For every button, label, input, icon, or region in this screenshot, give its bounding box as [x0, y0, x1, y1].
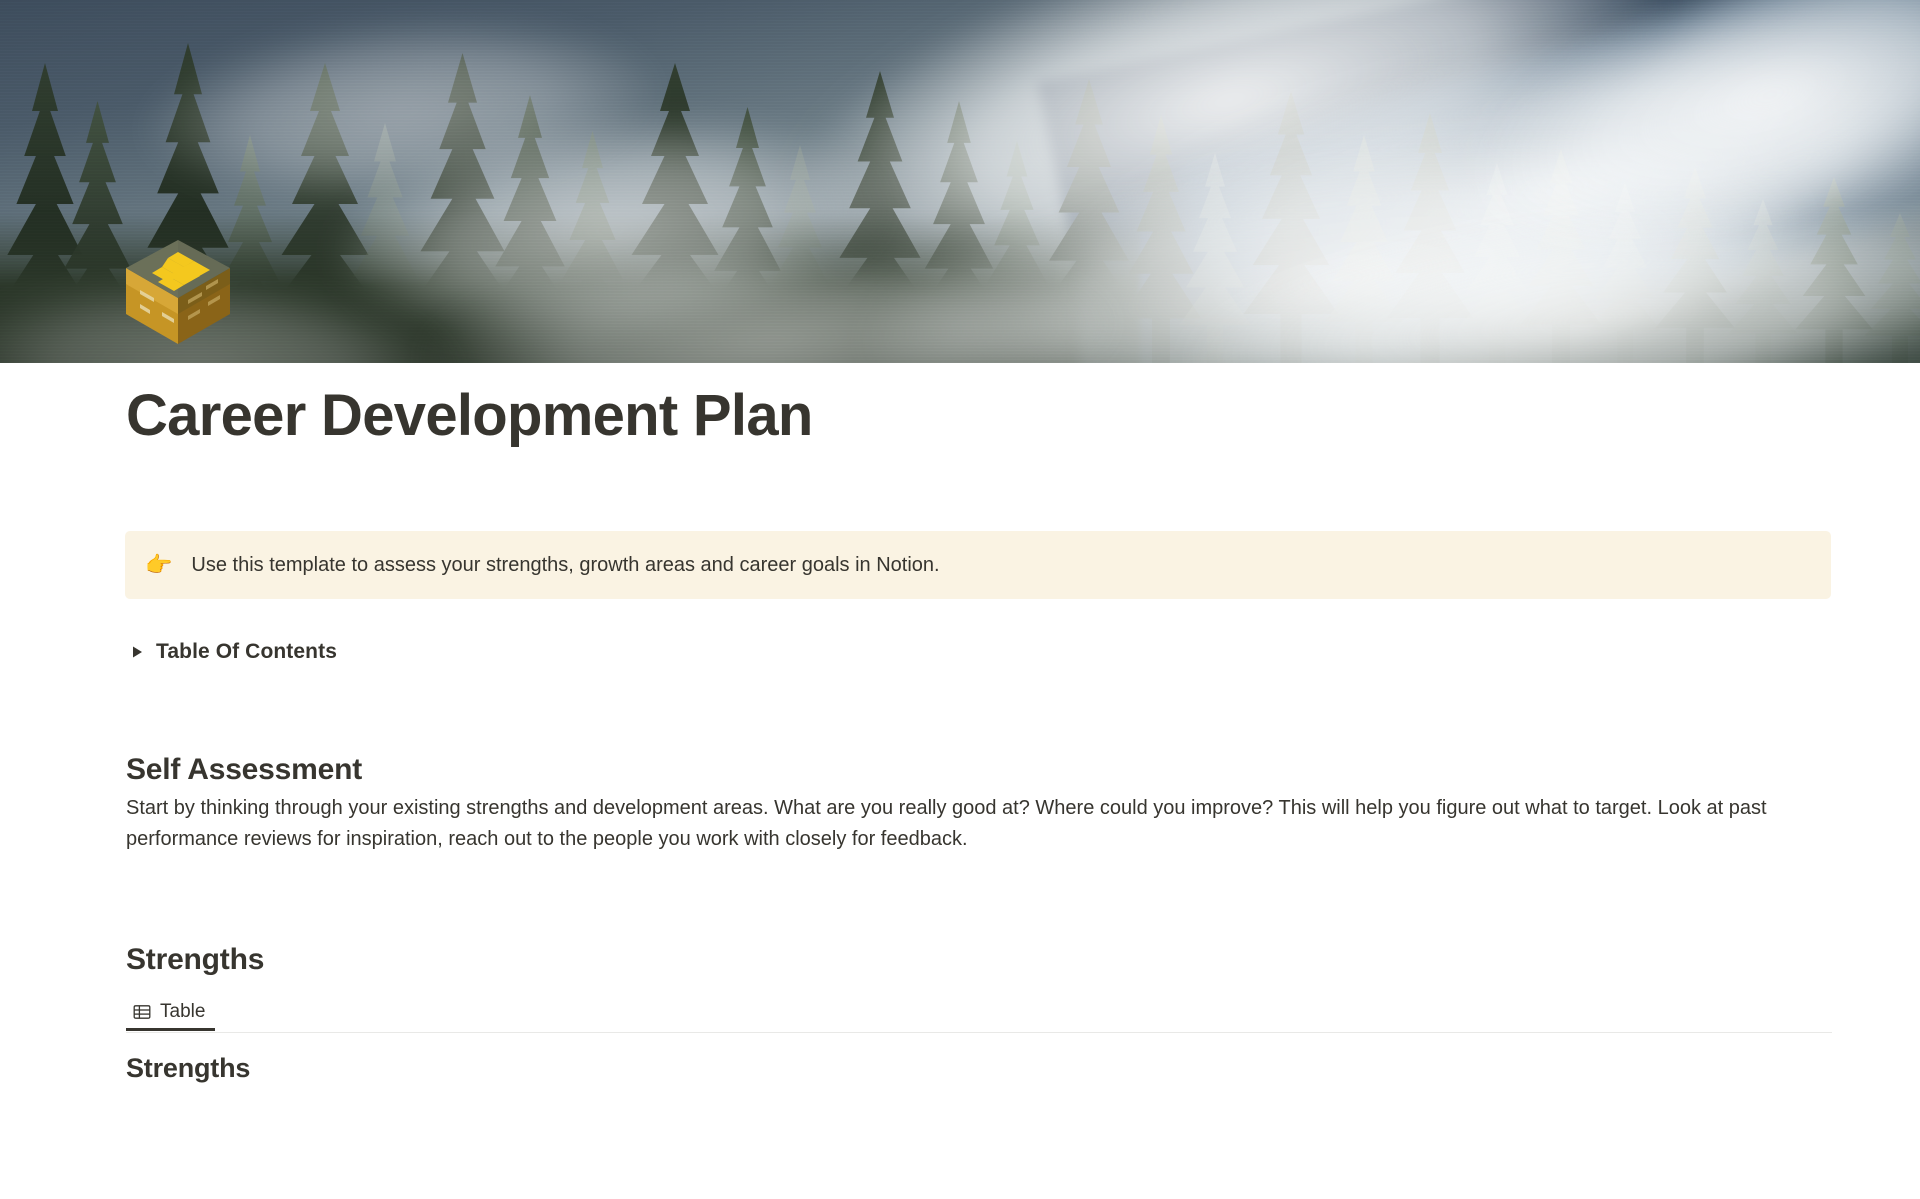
callout-block[interactable]: 👉 Use this template to assess your stren… [125, 531, 1831, 599]
heading-strengths[interactable]: Strengths [126, 943, 264, 977]
notion-page: Career Development Plan 👉 Use this templ… [0, 0, 1920, 1199]
cover-grain-overlay [0, 0, 1920, 363]
heading-self-assessment[interactable]: Self Assessment [126, 753, 362, 787]
tab-table-label: Table [160, 1001, 205, 1023]
database-title-strengths[interactable]: Strengths [126, 1053, 250, 1084]
tab-table[interactable]: Table [126, 993, 215, 1031]
chevron-right-icon[interactable] [128, 643, 146, 661]
page-title[interactable]: Career Development Plan [126, 383, 813, 450]
page-cover-image[interactable] [0, 0, 1920, 363]
table-grid-icon [132, 1002, 152, 1022]
pointing-right-hand-icon: 👉 [145, 554, 172, 576]
database-view-tabs: Table [126, 993, 1832, 1033]
table-of-contents-toggle[interactable]: Table Of Contents [128, 635, 337, 669]
isometric-box-with-cross-icon[interactable] [122, 228, 234, 352]
callout-text: Use this template to assess your strengt… [191, 550, 939, 580]
tabs-divider [126, 1032, 1832, 1033]
table-of-contents-label: Table Of Contents [156, 640, 337, 664]
self-assessment-body-text[interactable]: Start by thinking through your existing … [126, 793, 1826, 855]
